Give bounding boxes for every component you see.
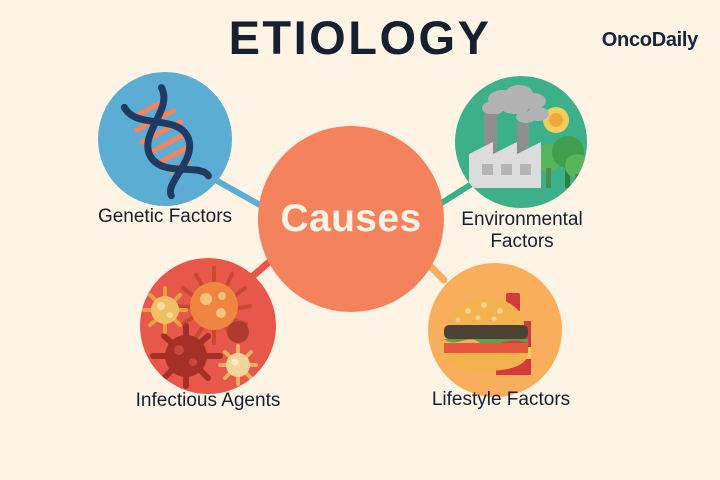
virus-darkred xyxy=(153,326,220,386)
node-label-environmental: Environmental Factors xyxy=(434,209,610,253)
dna-helix-icon xyxy=(98,72,232,206)
virus-yellow-left xyxy=(144,288,186,332)
burger-patty xyxy=(444,325,528,339)
node-circle-infectious[interactable] xyxy=(140,258,276,394)
node-label-lifestyle: Lifestyle Factors xyxy=(392,389,610,411)
node-label-genetic: Genetic Factors xyxy=(58,206,272,228)
infographic-canvas: ETIOLOGY OncoDaily xyxy=(0,0,720,480)
node-circle-environmental[interactable] xyxy=(455,76,587,208)
burger-tomato xyxy=(444,343,528,353)
node-circle-lifestyle[interactable] xyxy=(428,263,562,397)
virus-germs-icon xyxy=(140,258,276,394)
burger-bottle-icon xyxy=(428,263,562,397)
germ-dot xyxy=(227,321,249,343)
node-circle-genetic[interactable] xyxy=(98,72,232,206)
factory-pollution-icon xyxy=(455,76,587,208)
burger-icon xyxy=(444,297,528,371)
node-label-infectious: Infectious Agents xyxy=(98,390,318,412)
trees-icon xyxy=(534,136,587,189)
virus-yellow-bottom xyxy=(220,346,256,384)
hub-label-causes: Causes xyxy=(258,126,444,312)
